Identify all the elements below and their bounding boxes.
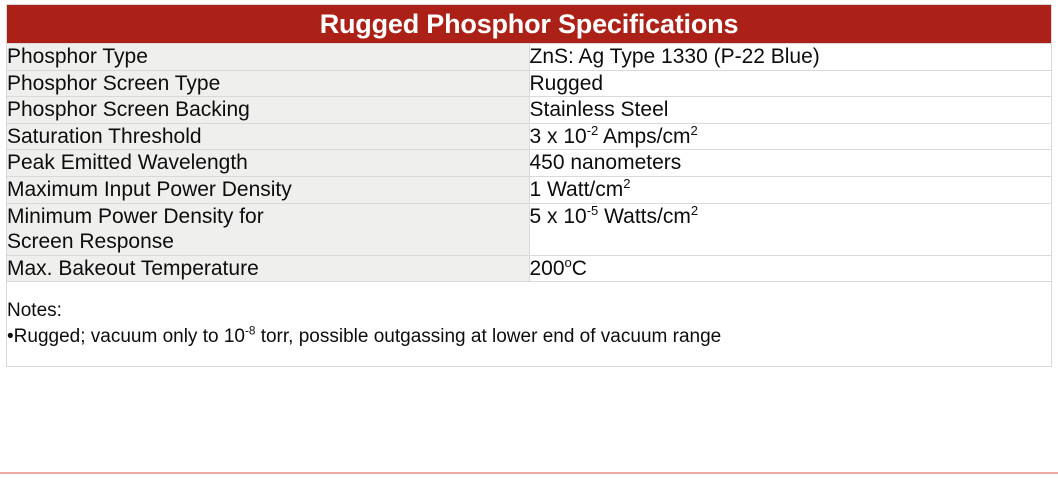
row-value-maximum-input-power-density: 1 Watt/cm2 bbox=[529, 177, 1052, 204]
row-label-line-1: Minimum Power Density for bbox=[7, 204, 529, 230]
notes-exponent: -8 bbox=[245, 325, 255, 338]
table-row: Phosphor Type ZnS: Ag Type 1330 (P-22 Bl… bbox=[7, 44, 1052, 71]
row-label-phosphor-screen-type: Phosphor Screen Type bbox=[7, 70, 530, 97]
value-text: 5 x 10 bbox=[530, 205, 587, 228]
spec-sheet-page: Rugged Phosphor Specifications Phosphor … bbox=[0, 0, 1058, 480]
row-value-saturation-threshold: 3 x 10-2 Amps/cm2 bbox=[529, 123, 1052, 150]
row-label-peak-emitted-wavelength: Peak Emitted Wavelength bbox=[7, 150, 530, 177]
page-title: Rugged Phosphor Specifications bbox=[7, 5, 1052, 44]
value-text: ZnS: Ag Type 1330 (P-22 Blue) bbox=[530, 45, 820, 68]
table-row: Saturation Threshold 3 x 10-2 Amps/cm2 bbox=[7, 123, 1052, 150]
row-label-phosphor-screen-backing: Phosphor Screen Backing bbox=[7, 97, 530, 124]
row-label-maximum-input-power-density: Maximum Input Power Density bbox=[7, 177, 530, 204]
row-value-phosphor-screen-type: Rugged bbox=[529, 70, 1052, 97]
value-text: 3 x 10 bbox=[530, 125, 587, 148]
row-label-minimum-power-density: Minimum Power Density for Screen Respons… bbox=[7, 203, 530, 255]
row-value-phosphor-type: ZnS: Ag Type 1330 (P-22 Blue) bbox=[529, 44, 1052, 71]
notes-bullet-text: •Rugged; vacuum only to 10 bbox=[7, 326, 245, 347]
row-value-phosphor-screen-backing: Stainless Steel bbox=[529, 97, 1052, 124]
notes-row: Notes: •Rugged; vacuum only to 10-8 torr… bbox=[7, 282, 1052, 367]
table-title-row: Rugged Phosphor Specifications bbox=[7, 5, 1052, 44]
value-unit-exponent: 2 bbox=[691, 203, 698, 218]
notes-bullet-item: •Rugged; vacuum only to 10-8 torr, possi… bbox=[7, 324, 1051, 350]
table-row: Phosphor Screen Type Rugged bbox=[7, 70, 1052, 97]
table-row: Minimum Power Density for Screen Respons… bbox=[7, 203, 1052, 255]
value-unit: Watts/cm bbox=[598, 205, 691, 228]
row-label-max-bakeout-temperature: Max. Bakeout Temperature bbox=[7, 255, 530, 282]
value-unit-exponent: 2 bbox=[690, 123, 697, 138]
value-text: Stainless Steel bbox=[530, 98, 669, 121]
table-row: Peak Emitted Wavelength 450 nanometers bbox=[7, 150, 1052, 177]
rugged-phosphor-specifications-table: Rugged Phosphor Specifications Phosphor … bbox=[6, 4, 1052, 367]
notes-bullet-tail: torr, possible outgassing at lower end o… bbox=[255, 326, 721, 347]
value-text: 1 Watt/cm bbox=[530, 178, 624, 201]
table-row: Max. Bakeout Temperature 200oC bbox=[7, 255, 1052, 282]
row-label-saturation-threshold: Saturation Threshold bbox=[7, 123, 530, 150]
table-row: Phosphor Screen Backing Stainless Steel bbox=[7, 97, 1052, 124]
value-unit: Amps/cm bbox=[598, 125, 690, 148]
value-unit-exponent: 2 bbox=[623, 176, 630, 191]
row-value-peak-emitted-wavelength: 450 nanometers bbox=[529, 150, 1052, 177]
degree-symbol: o bbox=[565, 255, 572, 270]
value-text: Rugged bbox=[530, 72, 604, 95]
row-label-line-2: Screen Response bbox=[7, 229, 529, 255]
table-row: Maximum Input Power Density 1 Watt/cm2 bbox=[7, 177, 1052, 204]
row-label-phosphor-type: Phosphor Type bbox=[7, 44, 530, 71]
bottom-accent-rule bbox=[0, 472, 1058, 474]
row-value-minimum-power-density: 5 x 10-5 Watts/cm2 bbox=[529, 203, 1052, 255]
value-unit: C bbox=[572, 257, 587, 280]
value-exponent: -2 bbox=[587, 123, 599, 138]
row-value-max-bakeout-temperature: 200oC bbox=[529, 255, 1052, 282]
value-text: 450 nanometers bbox=[530, 151, 682, 174]
notes-heading: Notes: bbox=[7, 298, 1051, 324]
value-text: 200 bbox=[530, 257, 565, 280]
notes-block: Notes: •Rugged; vacuum only to 10-8 torr… bbox=[7, 282, 1052, 367]
value-exponent: -5 bbox=[587, 203, 599, 218]
